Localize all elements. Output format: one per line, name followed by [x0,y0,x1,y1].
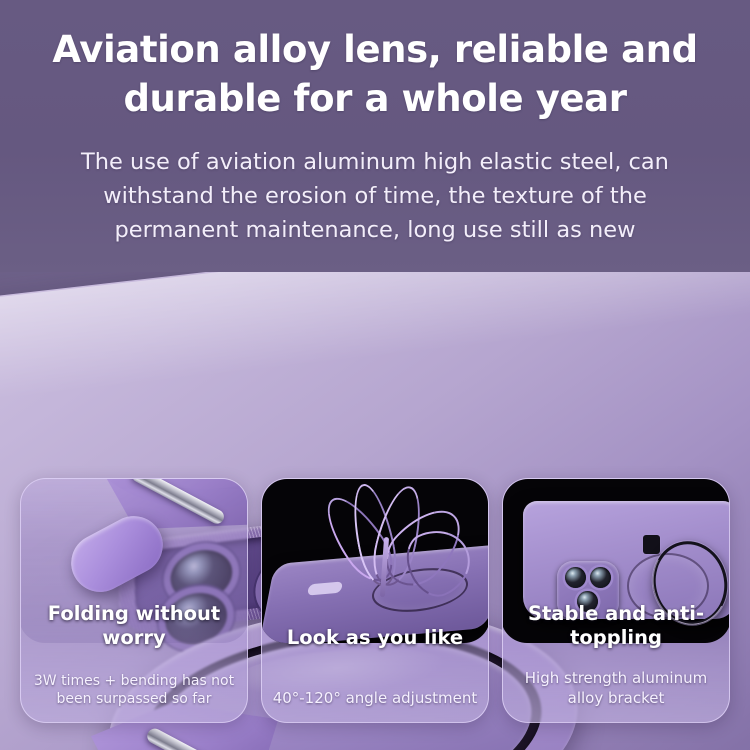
feature-card-row: Folding without worry 3W times + bending… [0,478,750,726]
ring-bracket-hinge [643,535,660,554]
product-feature-banner: Aviation alloy lens, reliable and durabl… [0,0,750,750]
feature-card-folding[interactable]: Folding without worry 3W times + bending… [20,478,248,723]
page-title: Aviation alloy lens, reliable and durabl… [0,26,750,124]
card-caption: High strength aluminum alloy bracket [503,669,729,708]
header-band: Aviation alloy lens, reliable and durabl… [0,0,750,272]
feature-card-stable[interactable]: Stable and anti-toppling High strength a… [502,478,730,723]
card-caption: 40°-120° angle adjustment [262,689,488,709]
camera-lens-icon [565,567,586,588]
card-caption: 3W times + bending has not been surpasse… [21,672,247,708]
card-title: Look as you like [262,626,488,650]
camera-lens-icon [590,567,611,588]
card-image-panel [261,478,489,643]
card-title: Folding without worry [21,602,247,650]
feature-card-angle[interactable]: Look as you like 40°-120° angle adjustme… [261,478,489,723]
page-subtitle: The use of aviation aluminum high elasti… [0,145,750,248]
card-title: Stable and anti-toppling [503,602,729,650]
